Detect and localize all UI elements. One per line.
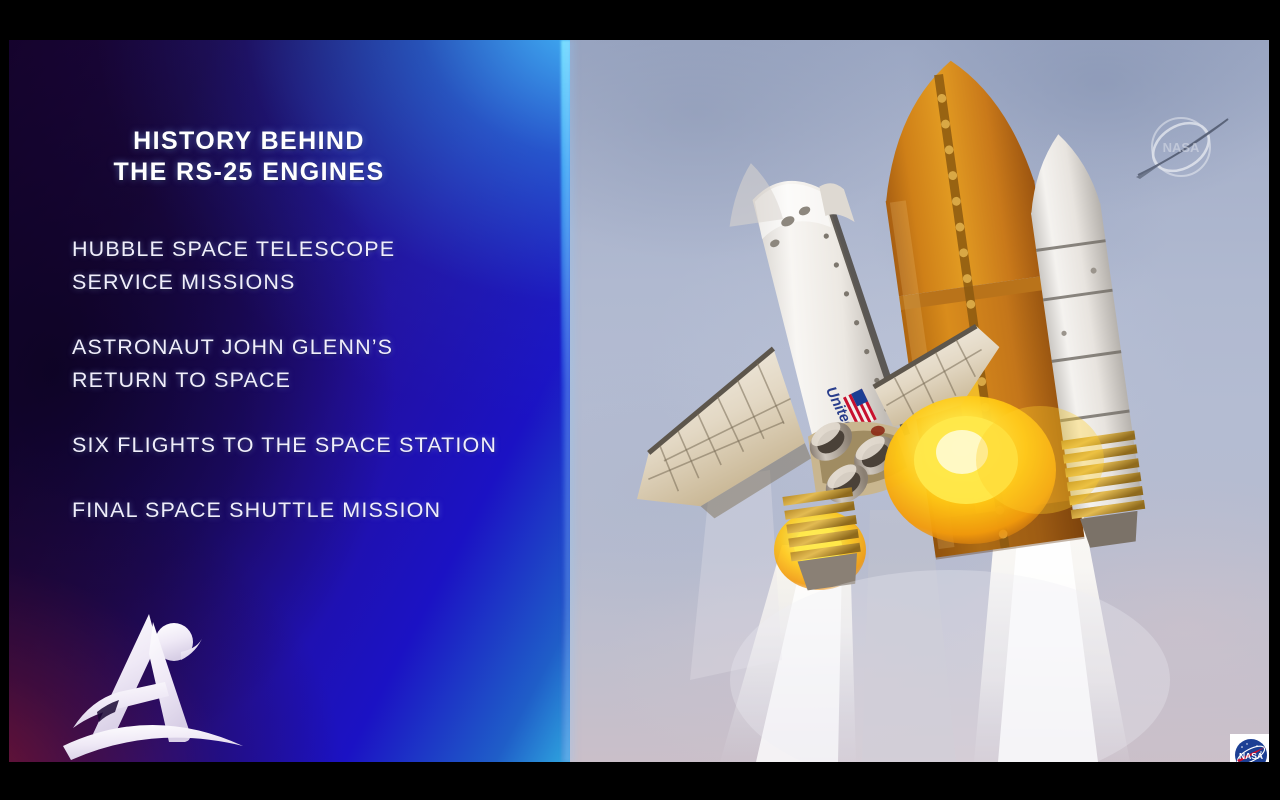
list-item-line: SIX FLIGHTS TO THE SPACE STATION [72,429,571,462]
highlights-list: HUBBLE SPACE TELESCOPE SERVICE MISSIONS … [72,233,571,559]
letterbox-bar-right [1269,0,1280,800]
list-item-line: FINAL SPACE SHUTTLE MISSION [72,494,571,527]
letterbox-bar-top [0,0,1280,40]
nasa-badge-wordmark: NASA [1239,751,1263,761]
list-item-line: ASTRONAUT JOHN GLENN’S [72,331,571,364]
list-item-hubble-service-missions: HUBBLE SPACE TELESCOPE SERVICE MISSIONS [72,233,571,299]
list-item-final-shuttle-mission: FINAL SPACE SHUTTLE MISSION [72,494,571,527]
list-item-six-flights-space-station: SIX FLIGHTS TO THE SPACE STATION [72,429,571,462]
space-shuttle-launch-photo: United States [570,40,1269,762]
nasa-insignia-watermark-icon: NASA [1126,105,1236,190]
slide-title: HISTORY BEHIND THE RS-25 ENGINES [9,126,489,188]
slide-title-line-1: HISTORY BEHIND [9,126,489,157]
slide-canvas: HISTORY BEHIND THE RS-25 ENGINES HUBBLE … [0,0,1280,800]
slide-content-frame: HISTORY BEHIND THE RS-25 ENGINES HUBBLE … [9,40,1269,762]
letterbox-bar-left [0,0,9,800]
letterbox-bar-bottom [0,762,1280,800]
left-info-panel: HISTORY BEHIND THE RS-25 ENGINES HUBBLE … [9,40,571,762]
nasa-meatball-logo-icon: NASA [1230,734,1269,762]
list-item-line: SERVICE MISSIONS [72,266,571,299]
list-item-line: HUBBLE SPACE TELESCOPE [72,233,571,266]
panel-photo-seam [565,40,579,762]
list-item-line: RETURN TO SPACE [72,364,571,397]
slide-title-line-2: THE RS-25 ENGINES [9,157,489,188]
svg-text:NASA: NASA [1163,140,1200,155]
list-item-john-glenn-return: ASTRONAUT JOHN GLENN’S RETURN TO SPACE [72,331,571,397]
artemis-logo-icon [57,600,247,762]
